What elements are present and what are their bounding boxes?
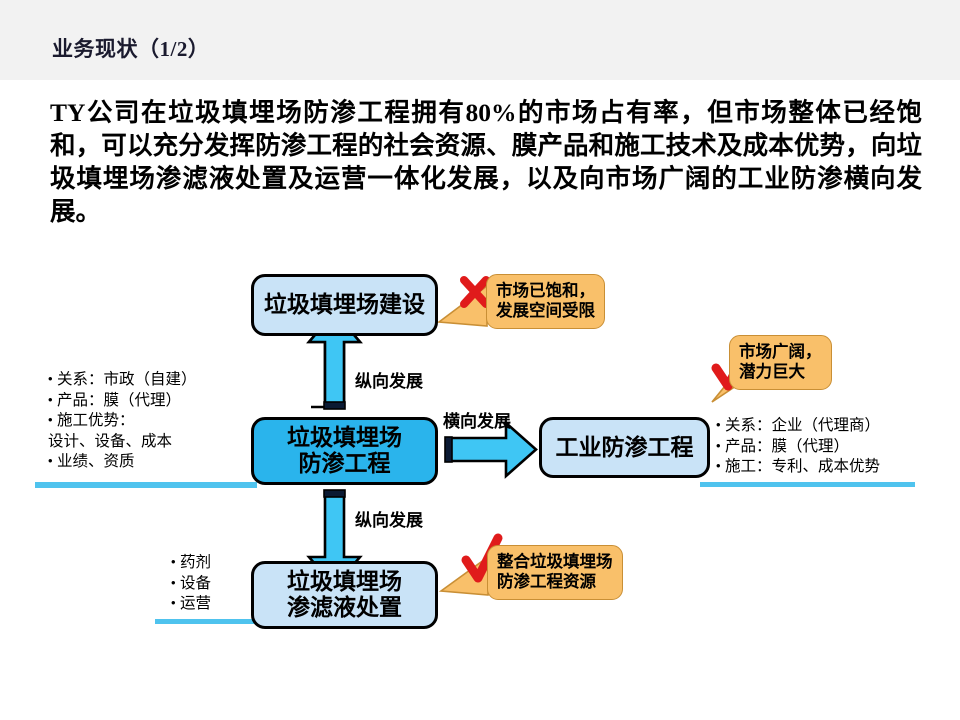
body-paragraph: TY公司在垃圾填埋场防渗工程拥有80%的市场占有率，但市场整体已经饱和，可以充分… <box>50 96 922 228</box>
bullet-list-leachate-disposal: 药剂 设备 运营 <box>171 553 211 615</box>
list-item: 业绩、资质 <box>48 452 197 473</box>
list-item: 施工优势： <box>48 411 197 432</box>
list-item: 产品：膜（代理） <box>716 437 880 458</box>
callout-integrate-resources-line2: 防渗工程资源 <box>497 572 613 592</box>
slide-canvas: 业务现状（1/2） TY公司在垃圾填埋场防渗工程拥有80%的市场占有率，但市场整… <box>0 0 960 720</box>
node-leachate-disposal-line2: 渗滤液处置 <box>287 595 402 621</box>
accent-rule-left <box>35 482 257 488</box>
callout-integrate-resources-line1: 整合垃圾填埋场 <box>497 552 613 572</box>
node-industrial-antiseepage-line1: 工业防渗工程 <box>556 435 694 461</box>
list-item: 运营 <box>171 594 211 615</box>
arrow-label-vertical-up: 纵向发展 <box>355 367 423 392</box>
node-landfill-antiseepage[interactable]: 垃圾填埋场 防渗工程 <box>251 417 438 485</box>
callout-market-broad-line1: 市场广阔， <box>739 342 822 362</box>
page-title: 业务现状（1/2） <box>52 33 209 63</box>
list-item: 关系：企业（代理商） <box>716 416 880 437</box>
node-leachate-disposal-line1: 垃圾填埋场 <box>287 569 402 595</box>
callout-market-saturated-line2: 发展空间受限 <box>496 301 595 321</box>
node-landfill-antiseepage-line2: 防渗工程 <box>299 451 391 477</box>
callout-market-saturated: 市场已饱和， 发展空间受限 <box>486 274 605 329</box>
callout-market-broad-line2: 潜力巨大 <box>739 362 822 382</box>
node-landfill-antiseepage-line1: 垃圾填埋场 <box>287 425 402 451</box>
node-landfill-construction-line1: 垃圾填埋场建设 <box>264 292 425 318</box>
list-item: 产品：膜（代理） <box>48 391 197 412</box>
arrow-label-vertical-down: 纵向发展 <box>355 506 423 531</box>
list-item: 关系：市政（自建） <box>48 370 197 391</box>
callout-market-broad: 市场广阔， 潜力巨大 <box>729 335 832 390</box>
node-industrial-antiseepage[interactable]: 工业防渗工程 <box>539 417 710 478</box>
list-item: 设计、设备、成本 <box>48 432 197 453</box>
list-item: 施工：专利、成本优势 <box>716 457 880 478</box>
list-item: 设备 <box>171 574 211 595</box>
diagram-area: 垃圾填埋场建设 垃圾填埋场 防渗工程 工业防渗工程 垃圾填埋场 渗滤液处置 市场… <box>0 250 960 650</box>
accent-rule-right <box>700 482 915 487</box>
bullet-list-landfill-antiseepage: 关系：市政（自建） 产品：膜（代理） 施工优势： 设计、设备、成本 业绩、资质 <box>48 370 197 473</box>
list-item: 药剂 <box>171 553 211 574</box>
node-landfill-construction[interactable]: 垃圾填埋场建设 <box>251 274 438 336</box>
node-leachate-disposal[interactable]: 垃圾填埋场 渗滤液处置 <box>251 561 438 629</box>
accent-rule-bottom-left <box>155 619 255 624</box>
arrow-label-horizontal: 横向发展 <box>443 407 511 432</box>
callout-market-saturated-line1: 市场已饱和， <box>496 281 595 301</box>
callout-integrate-resources: 整合垃圾填埋场 防渗工程资源 <box>487 545 623 600</box>
bullet-list-industrial-antiseepage: 关系：企业（代理商） 产品：膜（代理） 施工：专利、成本优势 <box>716 416 880 478</box>
